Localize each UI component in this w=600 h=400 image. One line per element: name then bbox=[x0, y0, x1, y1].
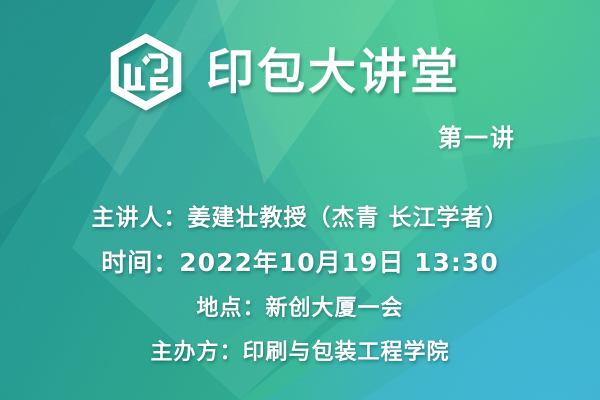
poster-canvas: 印包大讲堂 第一讲 主讲人：姜建壮教授（杰青 长江学者） 时间：2022年10月… bbox=[0, 0, 600, 400]
brand-row: 印包大讲堂 bbox=[104, 30, 461, 114]
info-line-speaker: 主讲人：姜建壮教授（杰青 长江学者） bbox=[0, 198, 600, 232]
poster-info-block: 主讲人：姜建壮教授（杰青 长江学者） 时间：2022年10月19日 13:30 … bbox=[0, 198, 600, 366]
info-line-time: 时间：2022年10月19日 13:30 bbox=[0, 243, 600, 279]
info-line-organizer: 主办方：印刷与包装工程学院 bbox=[0, 334, 600, 366]
info-line-location: 地点：新创大厦一会 bbox=[0, 290, 600, 322]
poster-title: 印包大讲堂 bbox=[206, 48, 461, 96]
poster-content: 印包大讲堂 第一讲 主讲人：姜建壮教授（杰青 长江学者） 时间：2022年10月… bbox=[0, 0, 600, 400]
poster-subtitle: 第一讲 bbox=[438, 118, 516, 153]
hexagon-yinbao-logo-icon bbox=[104, 30, 188, 114]
